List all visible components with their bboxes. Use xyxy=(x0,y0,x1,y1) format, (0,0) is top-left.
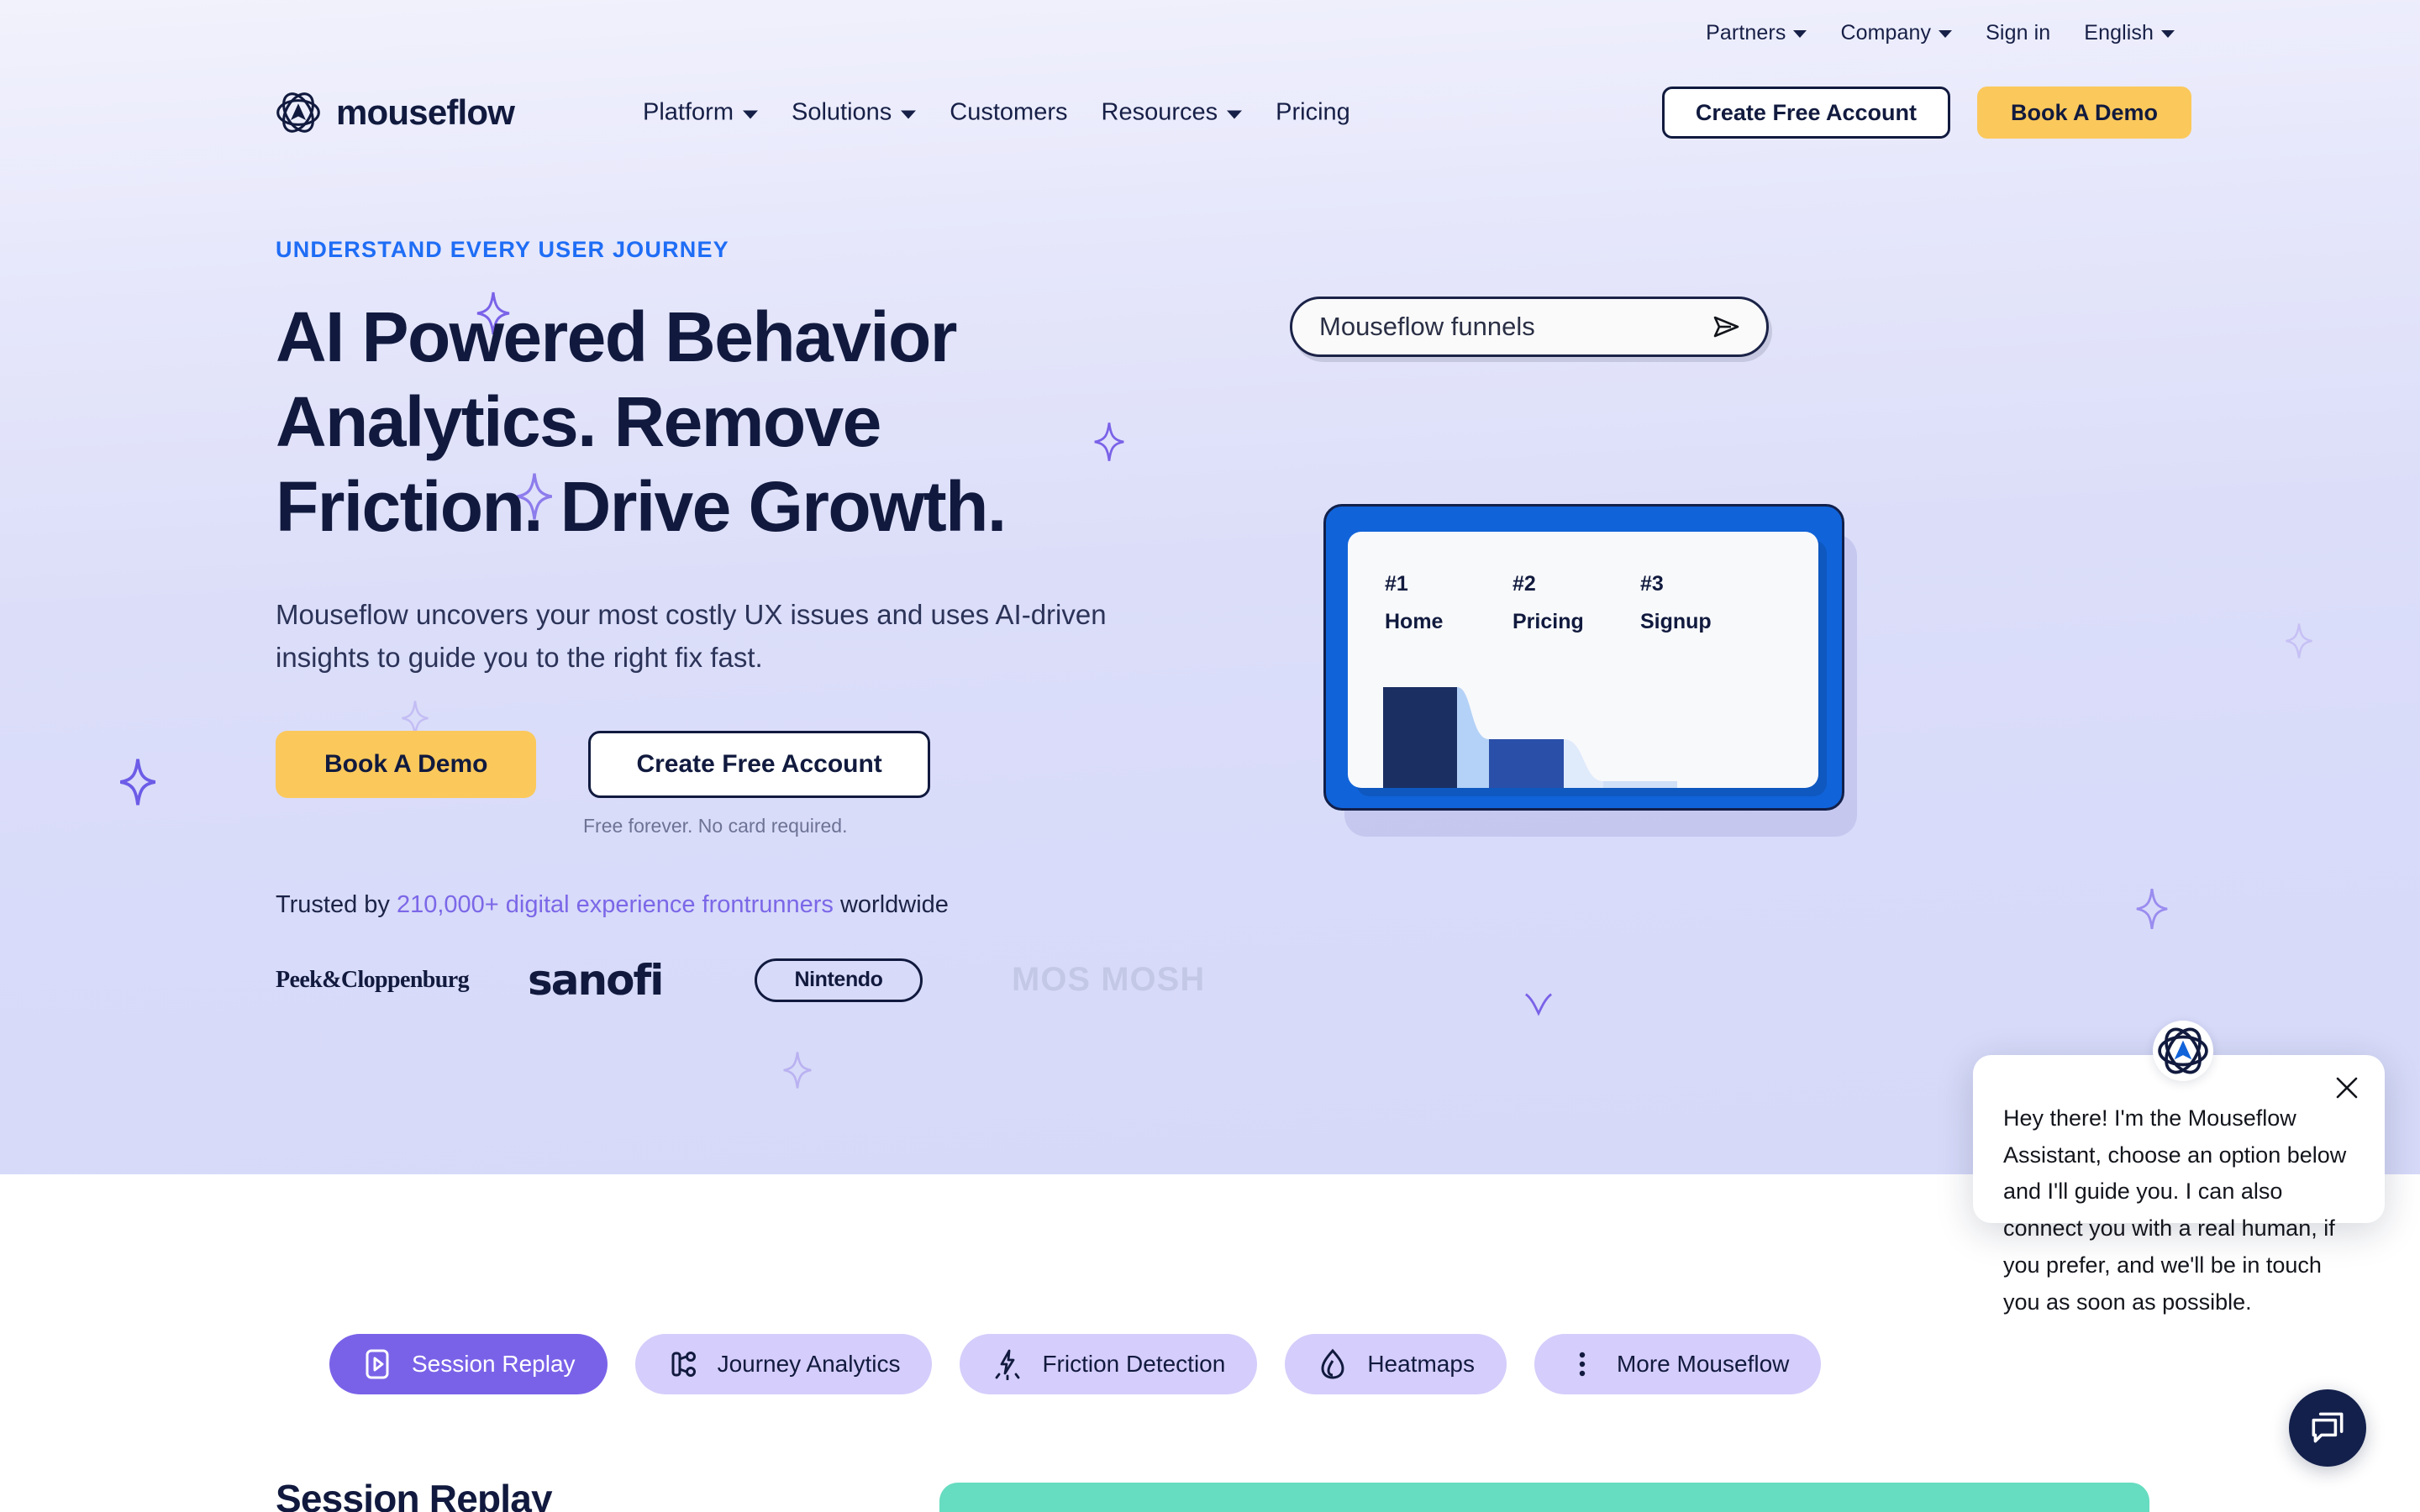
ai-prompt-box[interactable]: Mouseflow funnels xyxy=(1290,297,1769,357)
hero-cta-group: Book A Demo Create Free Account xyxy=(276,731,1267,798)
logo-sanofi: sanofi xyxy=(528,956,755,1005)
logo-peek-cloppenburg: Peek&Cloppenburg xyxy=(276,967,528,994)
utility-item-sign-in[interactable]: Sign in xyxy=(1969,21,2067,45)
logo-mos-mosh: MOS MOSH xyxy=(1012,961,1205,999)
page-root: Partners Company Sign in English xyxy=(0,0,2420,1512)
chat-launcher-button[interactable] xyxy=(2289,1389,2366,1467)
tab-label: Heatmaps xyxy=(1367,1351,1475,1378)
tab-more-mouseflow[interactable]: More Mouseflow xyxy=(1534,1334,1821,1394)
nav-links: Platform Solutions Customers Resources P… xyxy=(626,99,1367,127)
nav-link-customers[interactable]: Customers xyxy=(933,99,1084,127)
nav-link-pricing[interactable]: Pricing xyxy=(1259,99,1367,127)
hero-subtitle: Mouseflow uncovers your most costly UX i… xyxy=(276,594,1175,678)
create-free-account-button[interactable]: Create Free Account xyxy=(1662,87,1950,139)
hero-content: UNDERSTAND EVERY USER JOURNEY AI Powered… xyxy=(276,237,1267,1005)
funnel-device-mockup: #1 Home #2 Pricing #3 Signup xyxy=(1323,504,1844,811)
utility-label: Sign in xyxy=(1986,21,2050,45)
hero-title: AI Powered Behavior Analytics. Remove Fr… xyxy=(276,295,1015,549)
chevron-down-icon xyxy=(901,110,916,118)
utility-item-partners[interactable]: Partners xyxy=(1689,21,1823,45)
funnel-step-number: #3 xyxy=(1640,572,1768,596)
chat-bubbles-icon xyxy=(2307,1407,2349,1449)
utility-item-language[interactable]: English xyxy=(2067,21,2191,45)
nav-link-label: Resources xyxy=(1102,99,1218,127)
main-navigation: mouseflow Platform Solutions Customers R… xyxy=(0,66,2420,160)
friction-bolt-icon xyxy=(992,1348,1023,1380)
funnel-step-name: Home xyxy=(1385,610,1512,634)
trusted-highlight: 210,000+ digital experience frontrunners xyxy=(397,891,834,918)
utility-item-company[interactable]: Company xyxy=(1823,21,1969,45)
logo[interactable]: mouseflow xyxy=(276,90,514,135)
hero-section: Partners Company Sign in English xyxy=(0,0,2420,1174)
feature-preview-panel xyxy=(939,1483,2149,1512)
funnel-step-name: Signup xyxy=(1640,610,1768,634)
tab-label: Session Replay xyxy=(412,1351,576,1378)
tab-journey-analytics[interactable]: Journey Analytics xyxy=(635,1334,933,1394)
customer-logos-row: Peek&Cloppenburg sanofi Nintendo MOS MOS… xyxy=(276,956,1267,1005)
chat-avatar xyxy=(2153,1021,2213,1081)
trusted-prefix: Trusted by xyxy=(276,891,397,918)
nav-link-resources[interactable]: Resources xyxy=(1085,99,1260,127)
mouseflow-atom-icon xyxy=(276,90,321,135)
trusted-suffix: worldwide xyxy=(834,891,949,918)
chevron-down-icon xyxy=(743,110,758,118)
chevron-down-icon xyxy=(1939,30,1952,38)
funnel-step: #3 Signup xyxy=(1640,572,1768,634)
hero-illustration: Mouseflow funnels #1 Home xyxy=(1244,202,2420,1126)
tab-friction-detection[interactable]: Friction Detection xyxy=(960,1334,1257,1394)
journey-nodes-icon xyxy=(667,1348,699,1380)
trusted-by-line: Trusted by 210,000+ digital experience f… xyxy=(276,891,1267,919)
funnel-step-number: #1 xyxy=(1385,572,1512,596)
hero-eyebrow: UNDERSTAND EVERY USER JOURNEY xyxy=(276,237,1267,263)
close-icon[interactable] xyxy=(2333,1074,2361,1102)
funnel-bars-chart xyxy=(1383,687,1778,788)
funnel-steps: #1 Home #2 Pricing #3 Signup xyxy=(1348,532,1818,634)
tab-session-replay[interactable]: Session Replay xyxy=(329,1334,608,1394)
tab-label: More Mouseflow xyxy=(1617,1351,1789,1378)
funnel-step: #2 Pricing xyxy=(1512,572,1640,634)
utility-bar: Partners Company Sign in English xyxy=(0,0,2420,66)
chat-message: Hey there! I'm the Mouseflow Assistant, … xyxy=(2003,1100,2349,1320)
nav-cta-group: Create Free Account Book A Demo xyxy=(1662,87,2191,139)
nav-link-label: Customers xyxy=(950,99,1067,127)
flame-icon xyxy=(1317,1348,1349,1380)
logo-nintendo: Nintendo xyxy=(755,958,923,1002)
play-in-frame-icon xyxy=(361,1348,393,1380)
sparkle-icon xyxy=(118,756,158,808)
ai-prompt-value: Mouseflow funnels xyxy=(1319,312,1709,342)
hero-book-a-demo-button[interactable]: Book A Demo xyxy=(276,731,536,798)
nav-link-solutions[interactable]: Solutions xyxy=(775,99,933,127)
utility-label: Company xyxy=(1840,21,1931,45)
free-forever-note: Free forever. No card required. xyxy=(583,815,1267,837)
logo-text: mouseflow xyxy=(336,92,514,133)
nav-link-label: Platform xyxy=(643,99,734,127)
utility-label: Partners xyxy=(1706,21,1786,45)
tab-label: Friction Detection xyxy=(1042,1351,1225,1378)
send-paper-plane-icon[interactable] xyxy=(1709,310,1743,344)
funnel-step-name: Pricing xyxy=(1512,610,1640,634)
chevron-down-icon xyxy=(1793,30,1807,38)
tab-label: Journey Analytics xyxy=(718,1351,901,1378)
nav-link-platform[interactable]: Platform xyxy=(626,99,775,127)
chevron-down-icon xyxy=(2161,30,2175,38)
book-a-demo-button[interactable]: Book A Demo xyxy=(1977,87,2191,139)
feature-tabs: Session Replay Journey Analytics Frictio… xyxy=(329,1334,1821,1394)
funnel-chart-screen: #1 Home #2 Pricing #3 Signup xyxy=(1348,532,1818,788)
tab-heatmaps[interactable]: Heatmaps xyxy=(1285,1334,1507,1394)
section-heading-session-replay: Session Replay xyxy=(276,1476,552,1512)
sparkle-icon xyxy=(781,1050,813,1090)
more-vertical-icon xyxy=(1566,1348,1598,1380)
hero-create-free-account-button[interactable]: Create Free Account xyxy=(588,731,929,798)
funnel-step: #1 Home xyxy=(1385,572,1512,634)
mouseflow-atom-avatar-icon xyxy=(2157,1025,2209,1077)
funnel-step-number: #2 xyxy=(1512,572,1640,596)
nav-link-label: Pricing xyxy=(1276,99,1350,127)
nav-link-label: Solutions xyxy=(792,99,892,127)
utility-label: English xyxy=(2084,21,2154,45)
chevron-down-icon xyxy=(1227,110,1242,118)
